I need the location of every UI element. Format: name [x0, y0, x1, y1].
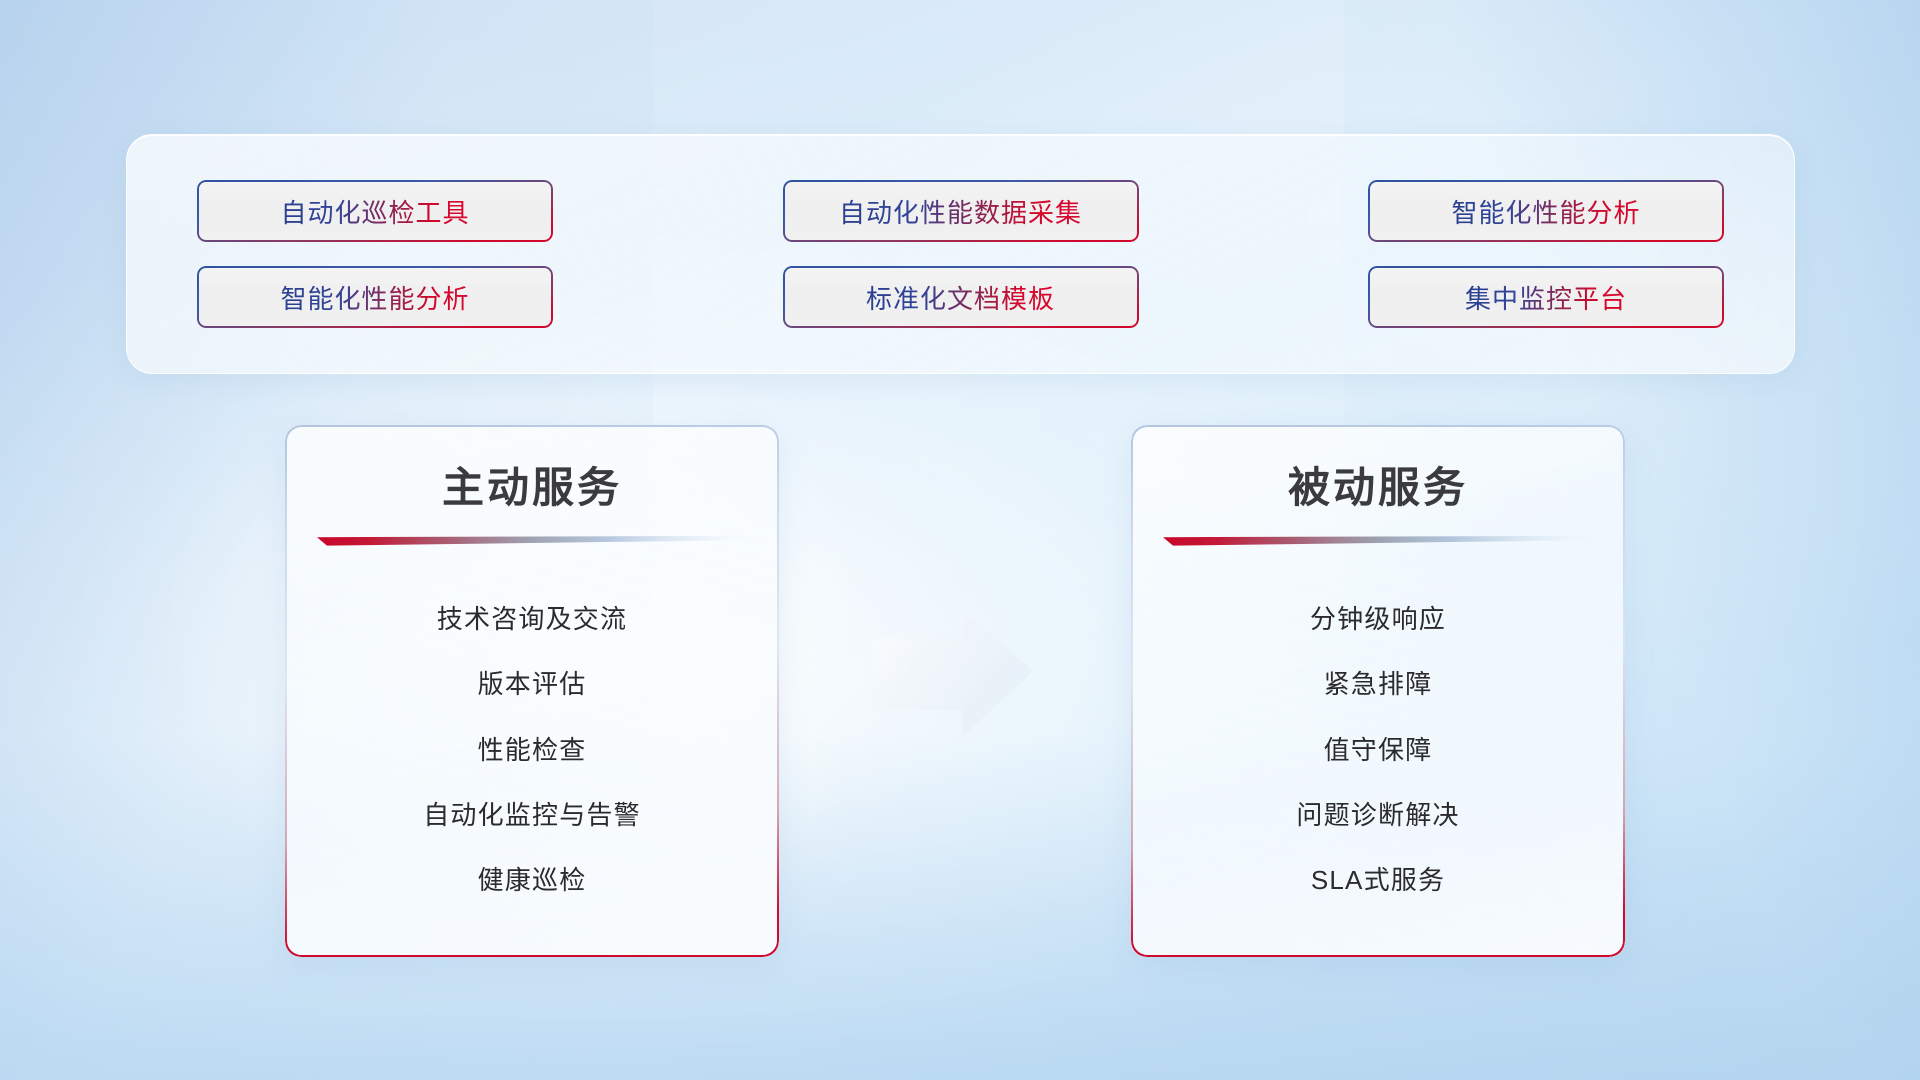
- list-item[interactable]: 健康巡检: [478, 865, 587, 896]
- capability-pill-label: 集中监控平台: [1465, 279, 1627, 316]
- card-item-list: 技术咨询及交流 版本评估 性能检查 自动化监控与告警 健康巡检: [319, 569, 745, 931]
- capability-pill-automated-inspection-tool[interactable]: 自动化巡检工具: [197, 180, 553, 242]
- capability-pill-centralized-monitoring-platform[interactable]: 集中监控平台: [1368, 266, 1724, 328]
- capability-pill-label: 自动化巡检工具: [280, 193, 469, 230]
- service-card-reactive[interactable]: 被动服务 分钟级响应 紧急排障: [1131, 425, 1625, 957]
- list-item[interactable]: 值守保障: [1324, 735, 1433, 766]
- capability-pill-intelligent-performance-analysis[interactable]: 智能化性能分析: [1368, 180, 1724, 242]
- capability-pill-label: 标准化文档模板: [866, 279, 1055, 316]
- capability-pill-label: 智能化性能分析: [1451, 193, 1640, 230]
- card-divider: [1163, 535, 1593, 547]
- capability-row-1: 自动化巡检工具 自动化性能数据采集 智能化性能分析: [197, 180, 1724, 242]
- card-divider: [317, 535, 747, 547]
- capability-row-2: 智能化性能分析 标准化文档模板 集中监控平台: [197, 266, 1724, 328]
- card-title: 主动服务: [442, 463, 622, 513]
- arrow-right-icon: [866, 612, 1036, 736]
- capability-pill-label: 智能化性能分析: [280, 279, 469, 316]
- capability-pill-automated-performance-data-collection[interactable]: 自动化性能数据采集: [783, 180, 1139, 242]
- card-item-list: 分钟级响应 紧急排障 值守保障 问题诊断解决 SLA式服务: [1165, 569, 1591, 931]
- list-item[interactable]: 版本评估: [478, 669, 587, 700]
- card-title: 被动服务: [1288, 463, 1468, 513]
- card-content: 主动服务 技术咨询及交流 版本评估: [285, 425, 779, 957]
- list-item[interactable]: SLA式服务: [1311, 865, 1445, 896]
- list-item[interactable]: 分钟级响应: [1310, 604, 1446, 635]
- capability-pill-intelligent-performance-analysis-2[interactable]: 智能化性能分析: [197, 266, 553, 328]
- capability-pill-standardized-document-template[interactable]: 标准化文档模板: [783, 266, 1139, 328]
- list-item[interactable]: 性能检查: [478, 735, 587, 766]
- list-item[interactable]: 紧急排障: [1324, 669, 1433, 700]
- list-item[interactable]: 自动化监控与告警: [423, 800, 641, 831]
- service-card-proactive[interactable]: 主动服务 技术咨询及交流 版本评估: [285, 425, 779, 957]
- card-content: 被动服务 分钟级响应 紧急排障: [1131, 425, 1625, 957]
- list-item[interactable]: 技术咨询及交流: [437, 604, 627, 635]
- capability-panel: 自动化巡检工具 自动化性能数据采集 智能化性能分析 智能化性能分析 标准化文档模…: [126, 134, 1795, 374]
- capability-pill-label: 自动化性能数据采集: [839, 193, 1082, 230]
- list-item[interactable]: 问题诊断解决: [1296, 800, 1459, 831]
